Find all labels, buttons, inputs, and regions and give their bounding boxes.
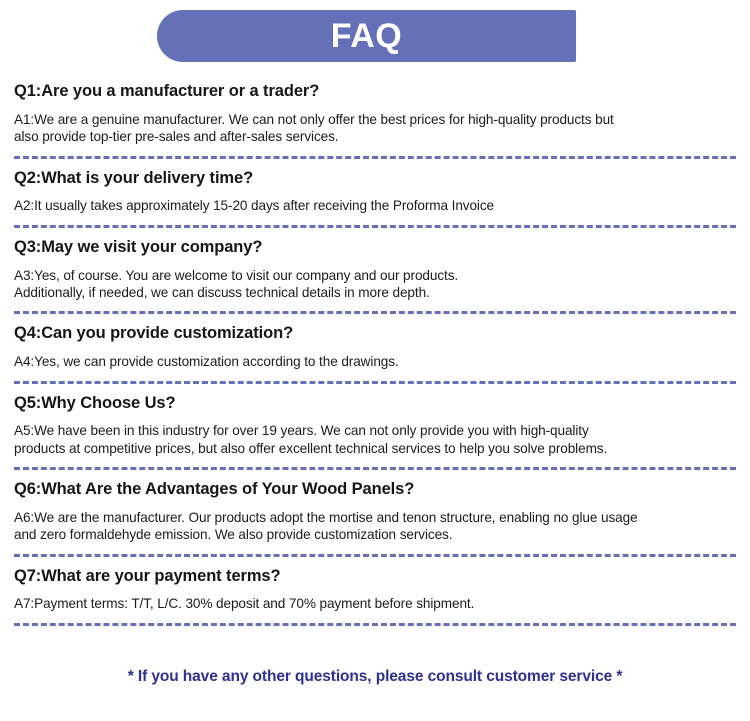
- faq-question: Q5:Why Choose Us?: [14, 384, 736, 414]
- faq-item: Q6:What Are the Advantages of Your Wood …: [0, 470, 750, 554]
- faq-question: Q7:What are your payment terms?: [14, 557, 736, 587]
- faq-divider: [14, 623, 736, 626]
- faq-answer-line: A2:It usually takes approximately 15-20 …: [14, 197, 736, 214]
- faq-answer-line: A5:We have been in this industry for ove…: [14, 422, 736, 439]
- faq-answer: A1:We are a genuine manufacturer. We can…: [14, 102, 736, 156]
- faq-item: Q7:What are your payment terms? A7:Payme…: [0, 557, 750, 623]
- faq-answer: A6:We are the manufacturer. Our products…: [14, 500, 736, 554]
- faq-page: FAQ Q1:Are you a manufacturer or a trade…: [0, 0, 750, 721]
- faq-answer: A2:It usually takes approximately 15-20 …: [14, 188, 736, 224]
- faq-question: Q6:What Are the Advantages of Your Wood …: [14, 470, 736, 500]
- faq-answer-line: products at competitive prices, but also…: [14, 440, 736, 457]
- faq-answer: A7:Payment terms: T/T, L/C. 30% deposit …: [14, 586, 736, 622]
- faq-answer-line: A6:We are the manufacturer. Our products…: [14, 509, 736, 526]
- faq-answer-line: also provide top-tier pre-sales and afte…: [14, 128, 736, 145]
- page-title: FAQ: [331, 19, 402, 53]
- faq-answer: A4:Yes, we can provide customization acc…: [14, 344, 736, 380]
- faq-list: Q1:Are you a manufacturer or a trader? A…: [0, 72, 750, 626]
- faq-question: Q4:Can you provide customization?: [14, 314, 736, 344]
- faq-question: Q3:May we visit your company?: [14, 228, 736, 258]
- faq-question: Q1:Are you a manufacturer or a trader?: [14, 72, 736, 102]
- faq-answer: A3:Yes, of course. You are welcome to vi…: [14, 258, 736, 312]
- faq-answer-line: Additionally, if needed, we can discuss …: [14, 284, 736, 301]
- faq-question: Q2:What is your delivery time?: [14, 159, 736, 189]
- faq-answer-line: A1:We are a genuine manufacturer. We can…: [14, 111, 736, 128]
- faq-answer: A5:We have been in this industry for ove…: [14, 413, 736, 467]
- faq-banner-shape: FAQ: [157, 10, 576, 62]
- faq-answer-line: A4:Yes, we can provide customization acc…: [14, 353, 736, 370]
- faq-item: Q1:Are you a manufacturer or a trader? A…: [0, 72, 750, 156]
- faq-item: Q4:Can you provide customization? A4:Yes…: [0, 314, 750, 380]
- faq-banner: FAQ: [157, 10, 576, 62]
- faq-item: Q2:What is your delivery time? A2:It usu…: [0, 159, 750, 225]
- customer-service-note: * If you have any other questions, pleas…: [0, 668, 750, 687]
- faq-answer-line: A3:Yes, of course. You are welcome to vi…: [14, 267, 736, 284]
- faq-answer-line: and zero formaldehyde emission. We also …: [14, 526, 736, 543]
- faq-answer-line: A7:Payment terms: T/T, L/C. 30% deposit …: [14, 595, 736, 612]
- faq-item: Q5:Why Choose Us? A5:We have been in thi…: [0, 384, 750, 468]
- faq-item: Q3:May we visit your company? A3:Yes, of…: [0, 228, 750, 312]
